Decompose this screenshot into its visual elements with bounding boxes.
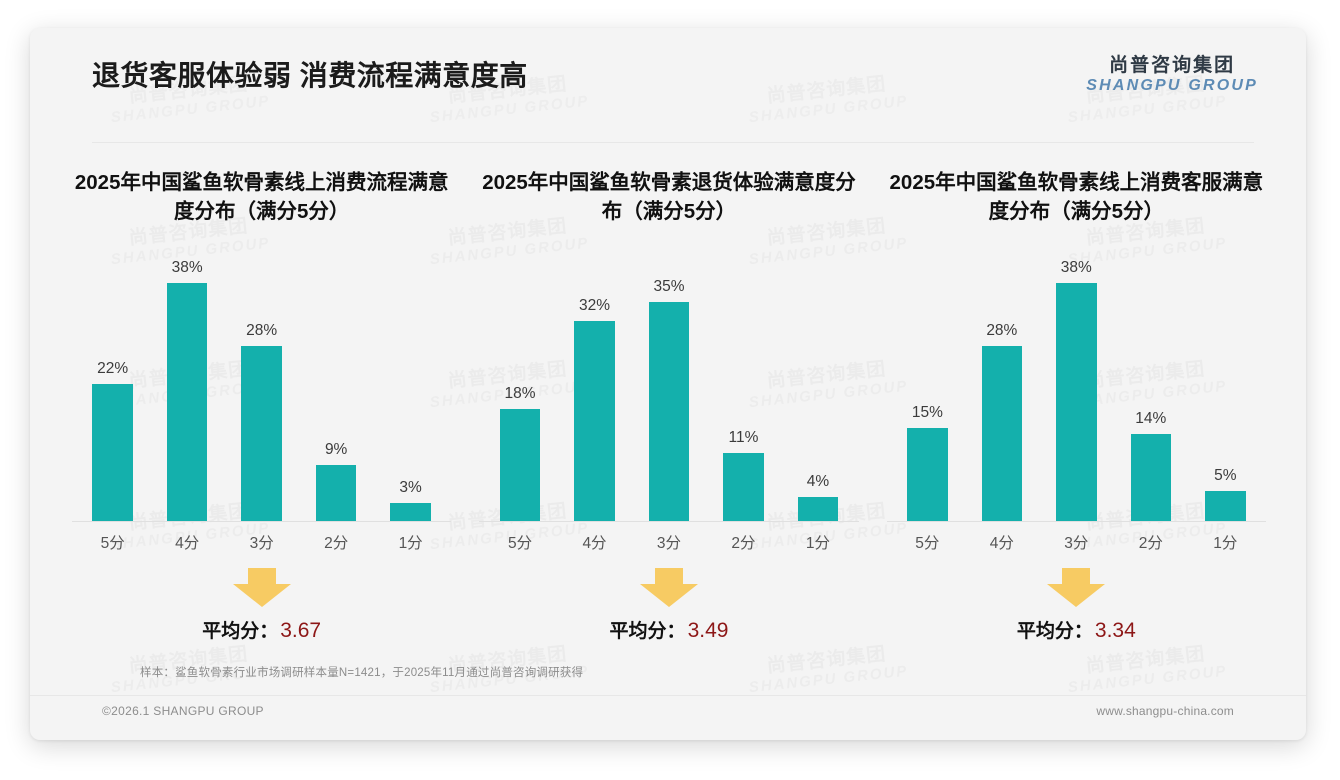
bar-column[interactable]: 22% bbox=[80, 258, 145, 522]
bar[interactable] bbox=[798, 497, 839, 522]
bar[interactable] bbox=[907, 428, 948, 522]
bar[interactable] bbox=[500, 409, 541, 522]
down-arrow-icon bbox=[66, 568, 457, 608]
bar-group: 22%38%28%9%3% bbox=[80, 258, 443, 522]
down-arrow-icon bbox=[473, 568, 864, 608]
x-axis-tick-label: 4分 bbox=[969, 531, 1034, 553]
bar-chart-plot: 15%28%38%14%5%5分4分3分2分1分 bbox=[881, 258, 1272, 558]
bar-column[interactable]: 4% bbox=[785, 258, 850, 522]
bar-column[interactable]: 32% bbox=[562, 258, 627, 522]
x-axis-tick-label: 3分 bbox=[1044, 531, 1109, 553]
bar-value-label: 35% bbox=[653, 278, 684, 296]
chart-title: 2025年中国鲨鱼软骨素退货体验满意度分布（满分5分） bbox=[473, 168, 864, 230]
bar[interactable] bbox=[316, 465, 357, 522]
bar-value-label: 3% bbox=[399, 479, 421, 497]
x-axis-tick-label: 2分 bbox=[1118, 531, 1183, 553]
x-axis-tick-label: 5分 bbox=[487, 531, 552, 553]
bar[interactable] bbox=[982, 346, 1023, 522]
average-score-label: 平均分： bbox=[1017, 621, 1093, 642]
average-score: 平均分：3.49 bbox=[473, 616, 864, 643]
bar-value-label: 28% bbox=[246, 322, 277, 340]
x-axis-line bbox=[72, 521, 451, 522]
bar-value-label: 38% bbox=[1061, 259, 1092, 277]
x-axis-tick-label: 5分 bbox=[895, 531, 960, 553]
average-score: 平均分：3.67 bbox=[66, 616, 457, 643]
company-logo: 尚普咨询集团 SHANGPU GROUP bbox=[1086, 56, 1258, 95]
bar-column[interactable]: 9% bbox=[303, 258, 368, 522]
slide-header: 退货客服体验弱 消费流程满意度高 尚普咨询集团 SHANGPU GROUP bbox=[30, 28, 1306, 124]
x-axis-tick-label: 2分 bbox=[711, 531, 776, 553]
bar[interactable] bbox=[723, 453, 764, 522]
bar-column[interactable]: 38% bbox=[1044, 258, 1109, 522]
charts-row: 2025年中国鲨鱼软骨素线上消费流程满意度分布（满分5分）22%38%28%9%… bbox=[58, 168, 1280, 678]
bar[interactable] bbox=[649, 302, 690, 522]
down-arrow-icon bbox=[881, 568, 1272, 608]
x-axis-tick-label: 1分 bbox=[785, 531, 850, 553]
chart-panel: 2025年中国鲨鱼软骨素线上消费流程满意度分布（满分5分）22%38%28%9%… bbox=[58, 168, 465, 678]
bar-value-label: 9% bbox=[325, 441, 347, 459]
website-link[interactable]: www.shangpu-china.com bbox=[1096, 704, 1234, 718]
x-axis-tick-label: 4分 bbox=[562, 531, 627, 553]
bar[interactable] bbox=[241, 346, 282, 522]
x-axis-line bbox=[887, 521, 1266, 522]
bar-chart-plot: 22%38%28%9%3%5分4分3分2分1分 bbox=[66, 258, 457, 558]
bar-column[interactable]: 14% bbox=[1118, 258, 1183, 522]
x-axis-tick-label: 4分 bbox=[154, 531, 219, 553]
x-axis-tick-label: 3分 bbox=[636, 531, 701, 553]
bar-chart-plot: 18%32%35%11%4%5分4分3分2分1分 bbox=[473, 258, 864, 558]
average-score-block: 平均分：3.49 bbox=[473, 564, 864, 668]
average-score-block: 平均分：3.34 bbox=[881, 564, 1272, 668]
bar-value-label: 18% bbox=[505, 385, 536, 403]
chart-title: 2025年中国鲨鱼软骨素线上消费流程满意度分布（满分5分） bbox=[66, 168, 457, 230]
bar-column[interactable]: 15% bbox=[895, 258, 960, 522]
logo-english-text: SHANGPU GROUP bbox=[1086, 78, 1258, 95]
bar-value-label: 32% bbox=[579, 297, 610, 315]
bar[interactable] bbox=[1056, 283, 1097, 522]
bar-value-label: 11% bbox=[729, 429, 759, 447]
slide-footer: ©2026.1 SHANGPU GROUP www.shangpu-china.… bbox=[30, 700, 1306, 730]
bar-column[interactable]: 28% bbox=[969, 258, 1034, 522]
bar[interactable] bbox=[92, 384, 133, 522]
bar-value-label: 28% bbox=[986, 322, 1017, 340]
x-axis-line bbox=[479, 521, 858, 522]
average-score-label: 平均分： bbox=[610, 621, 686, 642]
copyright-text: ©2026.1 SHANGPU GROUP bbox=[102, 704, 264, 718]
average-score-value: 3.49 bbox=[688, 619, 729, 642]
bar-value-label: 4% bbox=[807, 473, 829, 491]
bar[interactable] bbox=[574, 321, 615, 522]
bar-group: 15%28%38%14%5% bbox=[895, 258, 1258, 522]
average-score-label: 平均分： bbox=[202, 621, 278, 642]
bar-value-label: 14% bbox=[1135, 410, 1166, 428]
x-axis-tick-label: 5分 bbox=[80, 531, 145, 553]
chart-title: 2025年中国鲨鱼软骨素线上消费客服满意度分布（满分5分） bbox=[881, 168, 1272, 230]
average-score: 平均分：3.34 bbox=[881, 616, 1272, 643]
bar[interactable] bbox=[167, 283, 208, 522]
average-score-value: 3.67 bbox=[280, 619, 321, 642]
bar-column[interactable]: 18% bbox=[487, 258, 552, 522]
bar-column[interactable]: 5% bbox=[1193, 258, 1258, 522]
bar-value-label: 5% bbox=[1214, 467, 1236, 485]
bar-value-label: 15% bbox=[912, 404, 943, 422]
sample-footnote: 样本：鲨鱼软骨素行业市场调研样本量N=1421，于2025年11月通过尚普咨询调… bbox=[140, 664, 583, 680]
chart-panel: 2025年中国鲨鱼软骨素退货体验满意度分布（满分5分）18%32%35%11%4… bbox=[465, 168, 872, 678]
average-score-value: 3.34 bbox=[1095, 619, 1136, 642]
bar-column[interactable]: 28% bbox=[229, 258, 294, 522]
x-axis-tick-label: 3分 bbox=[229, 531, 294, 553]
bar-column[interactable]: 35% bbox=[636, 258, 701, 522]
bar[interactable] bbox=[390, 503, 431, 522]
logo-chinese-text: 尚普咨询集团 bbox=[1086, 56, 1258, 76]
bar[interactable] bbox=[1205, 491, 1246, 522]
bar-column[interactable]: 11% bbox=[711, 258, 776, 522]
x-axis-tick-labels: 5分4分3分2分1分 bbox=[895, 526, 1258, 558]
x-axis-tick-labels: 5分4分3分2分1分 bbox=[487, 526, 850, 558]
chart-panel: 2025年中国鲨鱼软骨素线上消费客服满意度分布（满分5分）15%28%38%14… bbox=[873, 168, 1280, 678]
header-divider bbox=[92, 142, 1254, 143]
x-axis-tick-labels: 5分4分3分2分1分 bbox=[80, 526, 443, 558]
bar-column[interactable]: 3% bbox=[378, 258, 443, 522]
bar[interactable] bbox=[1131, 434, 1172, 522]
page-title: 退货客服体验弱 消费流程满意度高 bbox=[92, 54, 528, 94]
average-score-block: 平均分：3.67 bbox=[66, 564, 457, 668]
footer-divider bbox=[30, 695, 1306, 696]
bar-value-label: 38% bbox=[172, 259, 203, 277]
bar-column[interactable]: 38% bbox=[154, 258, 219, 522]
slide: 尚普咨询集团SHANGPU GROUP尚普咨询集团SHANGPU GROUP尚普… bbox=[30, 28, 1306, 740]
x-axis-tick-label: 1分 bbox=[1193, 531, 1258, 553]
bar-group: 18%32%35%11%4% bbox=[487, 258, 850, 522]
bar-value-label: 22% bbox=[97, 360, 128, 378]
x-axis-tick-label: 1分 bbox=[378, 531, 443, 553]
x-axis-tick-label: 2分 bbox=[303, 531, 368, 553]
